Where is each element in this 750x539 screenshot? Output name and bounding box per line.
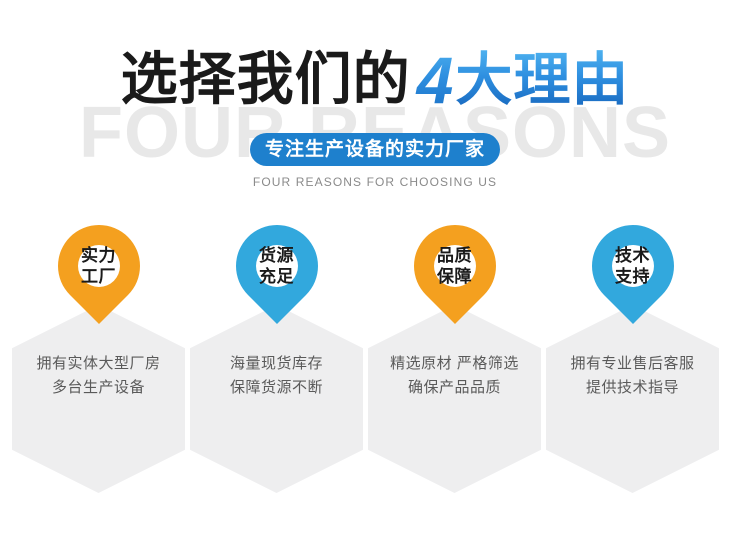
- reason-cards: 实力 工厂 拥有实体大型厂房 多台生产设备 货源 充足 海量现货库存: [0, 225, 750, 505]
- title-blue-part: 大理由: [455, 48, 629, 112]
- page-title: 选择我们的4大理由: [0, 47, 750, 113]
- map-pin-icon: 技术 支持: [592, 225, 674, 333]
- title-black-part: 选择我们的: [121, 48, 411, 112]
- header-section: FOUR REASONS 选择我们的4大理由 专注生产设备的实力厂家 FOUR …: [0, 0, 750, 210]
- pin-label: 货源 充足: [236, 245, 318, 287]
- reason-card: 实力 工厂 拥有实体大型厂房 多台生产设备: [10, 225, 187, 505]
- pin-label-line2: 保障: [414, 266, 496, 287]
- pin-label-line1: 实力: [81, 246, 116, 265]
- pin-label: 实力 工厂: [58, 245, 140, 287]
- subtitle-banner: 专注生产设备的实力厂家: [250, 133, 500, 166]
- card-desc-line2: 提供技术指导: [544, 376, 721, 400]
- map-pin-icon: 货源 充足: [236, 225, 318, 333]
- subtitle-english: FOUR REASONS FOR CHOOSING US: [0, 175, 750, 189]
- card-desc-line2: 确保产品品质: [366, 376, 543, 400]
- card-description: 拥有专业售后客服 提供技术指导: [544, 352, 721, 400]
- pin-label: 技术 支持: [592, 245, 674, 287]
- card-description: 精选原材 严格筛选 确保产品品质: [366, 352, 543, 400]
- map-pin-icon: 实力 工厂: [58, 225, 140, 333]
- card-desc-line2: 多台生产设备: [10, 376, 187, 400]
- pin-label-line2: 工厂: [58, 266, 140, 287]
- pin-label-line1: 技术: [615, 246, 650, 265]
- page-root: FOUR REASONS 选择我们的4大理由 专注生产设备的实力厂家 FOUR …: [0, 0, 750, 539]
- reason-card: 品质 保障 精选原材 严格筛选 确保产品品质: [366, 225, 543, 505]
- card-description: 拥有实体大型厂房 多台生产设备: [10, 352, 187, 400]
- card-desc-line1: 拥有实体大型厂房: [36, 355, 160, 372]
- pin-label-line1: 品质: [437, 246, 472, 265]
- card-desc-line1: 海量现货库存: [230, 355, 323, 372]
- card-desc-line1: 拥有专业售后客服: [570, 355, 694, 372]
- pin-label-line1: 货源: [259, 246, 294, 265]
- card-desc-line2: 保障货源不断: [188, 376, 365, 400]
- title-number-4: 4: [411, 43, 456, 117]
- map-pin-icon: 品质 保障: [414, 225, 496, 333]
- pin-label-line2: 充足: [236, 266, 318, 287]
- pin-label-line2: 支持: [592, 266, 674, 287]
- pin-label: 品质 保障: [414, 245, 496, 287]
- card-desc-line1: 精选原材 严格筛选: [390, 355, 519, 372]
- card-description: 海量现货库存 保障货源不断: [188, 352, 365, 400]
- reason-card: 货源 充足 海量现货库存 保障货源不断: [188, 225, 365, 505]
- reason-card: 技术 支持 拥有专业售后客服 提供技术指导: [544, 225, 721, 505]
